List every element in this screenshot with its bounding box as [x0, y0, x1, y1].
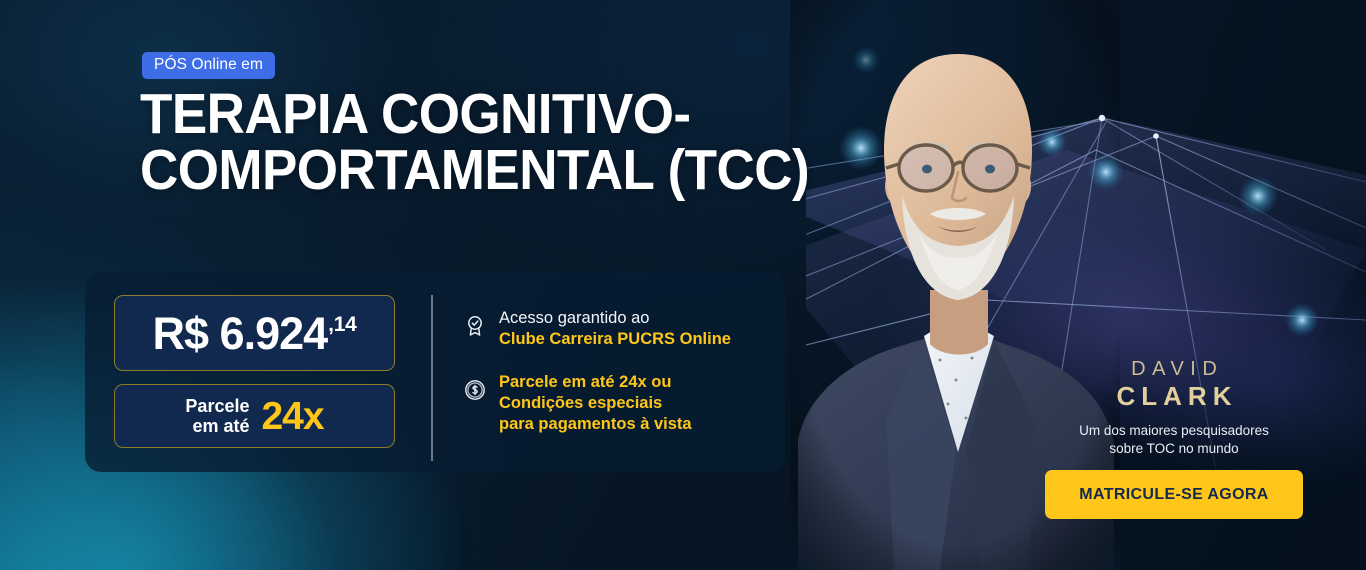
course-type-badge: PÓS Online em: [142, 52, 275, 79]
benefit-item-club-access: Acesso garantido ao Clube Carreira PUCRS…: [463, 308, 763, 350]
benefit-line-1: Parcele em até 24x ou: [499, 372, 692, 393]
benefit-line-1: Acesso garantido ao: [499, 308, 731, 329]
price-cents: ,14: [328, 314, 356, 335]
award-badge-icon: [463, 314, 487, 338]
banner-content: PÓS Online em TERAPIA COGNITIVO- COMPORT…: [0, 0, 1366, 570]
benefit-text: Acesso garantido ao Clube Carreira PUCRS…: [499, 308, 731, 350]
headline-line-2: COMPORTAMENTAL (TCC): [140, 142, 847, 198]
price-value: R$ 6.924,14: [153, 311, 357, 356]
speaker-info: DAVID CLARK Um dos maiores pesquisadores…: [1043, 358, 1305, 458]
dollar-coin-icon: [463, 378, 487, 402]
installment-box: Parcele em até 24x: [114, 384, 395, 448]
installment-count: 24x: [261, 397, 323, 436]
benefit-item-payment-options: Parcele em até 24x ou Condições especiai…: [463, 372, 763, 435]
speaker-last-name: CLARK: [1043, 381, 1305, 412]
installment-label-line-2: em até: [192, 416, 249, 436]
vertical-divider: [431, 295, 433, 461]
speaker-description: Um dos maiores pesquisadores sobre TOC n…: [1043, 422, 1305, 459]
price-amount: R$ 6.924: [153, 311, 328, 356]
speaker-description-line-1: Um dos maiores pesquisadores: [1043, 422, 1305, 440]
page-title: TERAPIA COGNITIVO- COMPORTAMENTAL (TCC): [140, 86, 847, 199]
speaker-first-name: DAVID: [1043, 358, 1305, 380]
headline-line-1: TERAPIA COGNITIVO-: [140, 82, 691, 146]
enroll-now-button[interactable]: MATRICULE-SE AGORA: [1045, 470, 1303, 519]
price-box: R$ 6.924,14: [114, 295, 395, 371]
benefit-line-2: Clube Carreira PUCRS Online: [499, 329, 731, 350]
installment-label-line-1: Parcele: [185, 396, 249, 416]
benefit-line-2: Condições especiais: [499, 393, 692, 414]
benefits-list: Acesso garantido ao Clube Carreira PUCRS…: [463, 308, 763, 435]
price-column: R$ 6.924,14 Parcele em até 24x: [114, 295, 395, 448]
installment-label: Parcele em até: [185, 396, 249, 436]
speaker-description-line-2: sobre TOC no mundo: [1043, 440, 1305, 458]
benefit-text: Parcele em até 24x ou Condições especiai…: [499, 372, 692, 435]
benefit-line-3: para pagamentos à vista: [499, 414, 692, 435]
offer-card: R$ 6.924,14 Parcele em até 24x: [85, 272, 785, 472]
promo-banner: PÓS Online em TERAPIA COGNITIVO- COMPORT…: [0, 0, 1366, 570]
